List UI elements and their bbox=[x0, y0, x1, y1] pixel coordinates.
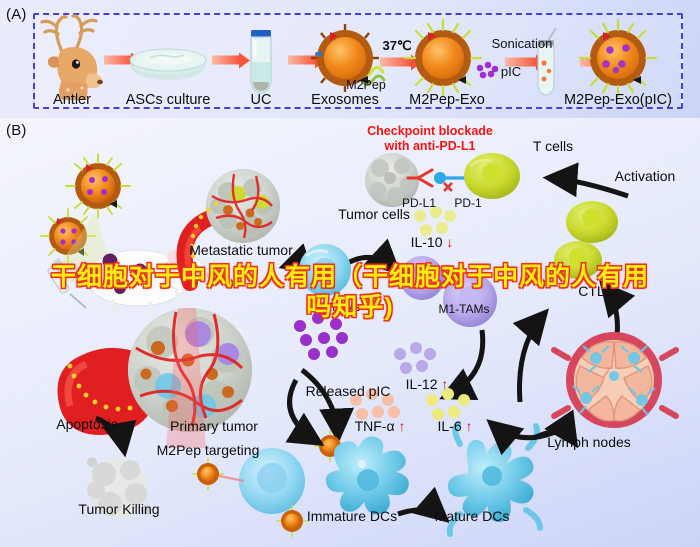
mouse-illustration bbox=[86, 250, 211, 315]
il6-particles bbox=[426, 388, 470, 420]
label-il-6: IL-6 ↑ bbox=[437, 418, 472, 434]
label-ctls: CTLs bbox=[578, 283, 611, 299]
metastatic-tumor-illustration bbox=[185, 169, 280, 283]
immature-dc-illustration bbox=[326, 436, 409, 514]
targeting-exosome-c bbox=[276, 505, 308, 537]
targeting-exosome-b bbox=[192, 458, 224, 490]
label-tnf-alpha: TNF-α ↑ bbox=[355, 418, 406, 434]
ctl-cell-2 bbox=[554, 241, 602, 279]
label-metastatic-tumor: Metastatic tumor bbox=[189, 242, 292, 258]
arrow-tube-to-final bbox=[580, 58, 610, 67]
panel-a-letter: (A) bbox=[6, 6, 27, 23]
label-activation: Activation bbox=[615, 168, 676, 184]
label-released-pic: Released pIC bbox=[306, 383, 391, 399]
panel-a-label-m2pep-exo: M2Pep-Exo bbox=[409, 92, 485, 108]
panel-a-label-uc: UC bbox=[251, 92, 272, 108]
label-il-10: IL-10 ↓ bbox=[411, 234, 454, 250]
panel-a-label-m2pep-exo-pic: M2Pep-Exo(pIC) bbox=[564, 92, 672, 108]
injected-exosome-1 bbox=[66, 154, 130, 218]
injected-exosome-2 bbox=[41, 209, 95, 263]
t-cell-primary bbox=[464, 153, 520, 199]
panel-a-sonication-label: Sonication bbox=[492, 36, 553, 51]
panel-a-label-exosomes: Exosomes bbox=[311, 92, 379, 108]
il-6-name: IL-6 bbox=[437, 418, 461, 434]
panel-b-letter: (B) bbox=[6, 122, 27, 139]
arrow-exosomes-to-m2pep bbox=[380, 58, 412, 67]
panel-b: (B) Checkpoint blockade with anti-PD-L1 … bbox=[0, 118, 700, 547]
il12-particles bbox=[394, 342, 436, 374]
label-m1-tams: M1-TAMs bbox=[438, 302, 489, 316]
il-10-name: IL-10 bbox=[411, 234, 443, 250]
figure-root: (A) bbox=[0, 0, 700, 547]
tnf-alpha-name: TNF-α bbox=[355, 418, 395, 434]
tnf-alpha-direction: ↑ bbox=[398, 418, 405, 434]
pd-l1-receptor-icon bbox=[408, 170, 432, 186]
label-pd-1: PD-1 bbox=[454, 196, 481, 210]
panel-a-m2pep-label: M2Pep bbox=[346, 78, 386, 92]
m1-tam-macrophage-2 bbox=[443, 273, 497, 327]
arrow-antler-to-culture bbox=[104, 56, 132, 65]
label-lymph-nodes: Lymph nodes bbox=[547, 434, 631, 450]
panel-a-label-antler: Antler bbox=[53, 92, 91, 108]
label-m2pep-targeting: M2Pep targeting bbox=[157, 442, 260, 458]
panel-a-label-ascs-culture: ASCs culture bbox=[126, 92, 211, 108]
arrow-uc-to-exosomes bbox=[288, 56, 316, 65]
ctl-cell-1 bbox=[566, 201, 618, 243]
targeting-exosome-a bbox=[314, 430, 346, 462]
label-m2-tams: M2-TAMs bbox=[309, 300, 360, 314]
il10-particles bbox=[414, 206, 456, 236]
label-immature-dcs: Immature DCs bbox=[307, 508, 397, 524]
label-apoptosis: Apoptosis bbox=[56, 416, 117, 432]
il-12-name: IL-12 bbox=[406, 376, 438, 392]
label-tumor-killing: Tumor Killing bbox=[78, 501, 159, 517]
label-mature-dcs: Mature DCs bbox=[435, 508, 510, 524]
released-pic-particles bbox=[294, 312, 348, 360]
arrow-culture-to-uc bbox=[212, 56, 240, 65]
label-t-cells: T cells bbox=[533, 138, 573, 154]
panel-a-temperature: 37℃ bbox=[382, 38, 411, 54]
checkpoint-blockade-line2: with anti-PD-L1 bbox=[385, 139, 476, 153]
panel-a-pic-label: pIC bbox=[501, 64, 521, 79]
il-10-direction: ↓ bbox=[446, 234, 453, 250]
lymph-node-illustration bbox=[554, 332, 676, 428]
m2-tam-macrophage bbox=[299, 244, 351, 296]
pd-1-ligand-icon bbox=[434, 172, 446, 184]
label-primary-tumor: Primary tumor bbox=[170, 418, 258, 434]
panel-a: (A) bbox=[0, 0, 700, 118]
panel-b-illustration-svg bbox=[0, 118, 700, 547]
blockade-x-icon bbox=[444, 183, 452, 191]
m1-tam-macrophage-1 bbox=[400, 256, 444, 300]
syringe-icon bbox=[47, 257, 86, 308]
label-tumor-cells: Tumor cells bbox=[338, 206, 410, 222]
label-il-12: IL-12 ↑ bbox=[406, 376, 449, 392]
checkpoint-blockade-line1: Checkpoint blockade bbox=[367, 124, 493, 138]
il-12-direction: ↑ bbox=[441, 376, 448, 392]
il-6-direction: ↑ bbox=[466, 418, 473, 434]
